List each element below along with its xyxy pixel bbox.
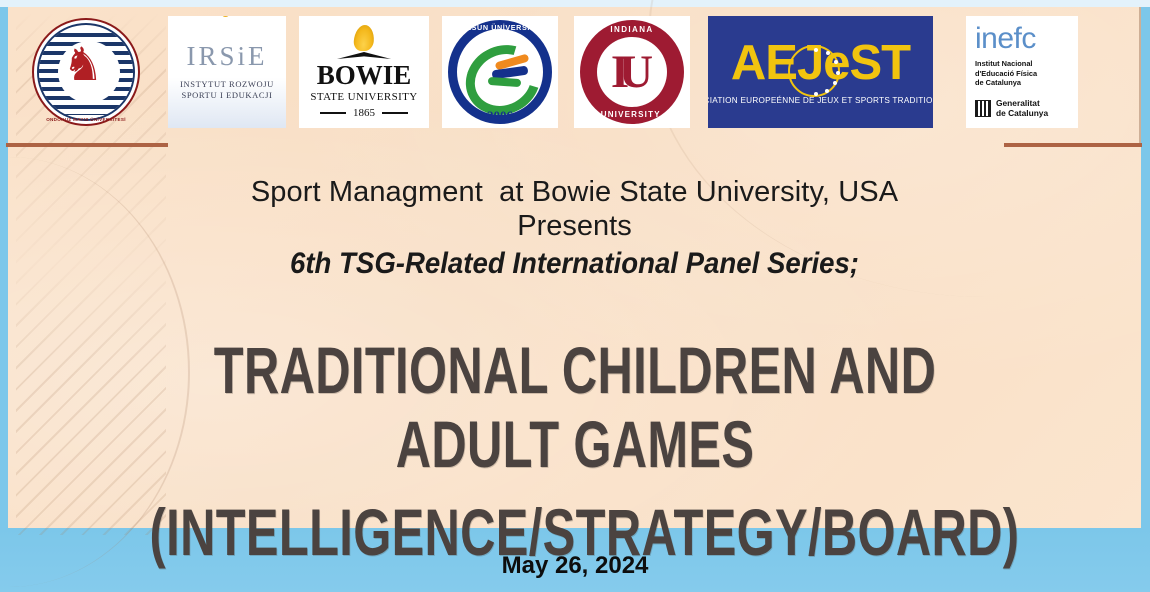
- inefc-subtitle-line2: d'Educació Física: [975, 69, 1037, 79]
- irsie-subtitle-line2: SPORTU I EDUKACJI: [180, 90, 274, 101]
- bowie-subtitle: STATE UNIVERSITY: [310, 91, 417, 103]
- event-date: May 26, 2024: [0, 552, 1150, 580]
- headline-line-1: TRADITIONAL CHILDREN AND ADULT GAMES: [150, 333, 1001, 481]
- inefc-subtitle-line1: Institut Nacional: [975, 59, 1037, 69]
- logo-aejest: AEJeST ASSOCIATION EUROPEÉNNE DE JEUX ET…: [708, 16, 933, 128]
- generalitat-lockup: Generalitat de Catalunya: [975, 98, 1048, 119]
- generalitat-text: Generalitat de Catalunya: [996, 98, 1048, 119]
- inefc-subtitle-line3: de Catalunya: [975, 78, 1037, 88]
- headline-block: TRADITIONAL CHILDREN AND ADULT GAMES (IN…: [0, 333, 1150, 569]
- omu-statue-icon: ♞: [59, 38, 107, 94]
- iu-bottom-text: UNIVERSITY.: [580, 110, 684, 119]
- inefc-wordmark: inefc: [975, 24, 1036, 54]
- bowie-flame-icon: [353, 25, 375, 51]
- presenter-line: Sport Managment at Bowie State Universit…: [8, 175, 1141, 209]
- iu-monogram: IU: [580, 44, 684, 100]
- generalitat-line1: Generalitat: [996, 98, 1048, 109]
- bowie-wordmark: BOWIE: [317, 62, 412, 89]
- generalitat-line2: de Catalunya: [996, 108, 1048, 119]
- irsie-subtitle-line1: INSTYTUT ROZWOJU: [180, 79, 274, 90]
- aejest-subtitle: ASSOCIATION EUROPEÉNNE DE JEUX ET SPORTS…: [708, 96, 933, 105]
- iu-top-text: INDIANA: [580, 25, 684, 34]
- logo-giresun-universitesi: GİRESUN ÜNİVERSİTESİ 2006: [442, 16, 558, 128]
- presents-line: Presents: [8, 209, 1141, 243]
- logo-inefc: inefc Institut Nacional d'Educació Físic…: [966, 16, 1078, 128]
- sponsor-logo-strip: ♞ ONDOKUZ MAYIS ÜNİVERSİTESİ IRSiE INSTY…: [8, 8, 1141, 134]
- top-edge-strip: [0, 0, 1150, 7]
- logo-indiana-university: IU INDIANA UNIVERSITY.: [574, 16, 690, 128]
- bowie-founding-year: 1865: [320, 107, 408, 119]
- inefc-subtitle: Institut Nacional d'Educació Física de C…: [975, 59, 1037, 88]
- bowie-open-book-icon: [337, 52, 391, 59]
- series-line: 6th TSG-Related International Panel Seri…: [53, 246, 1095, 282]
- presentation-slide: ♞ ONDOKUZ MAYIS ÜNİVERSİTESİ IRSiE INSTY…: [0, 0, 1150, 592]
- divider-rule-left: [6, 143, 168, 147]
- aejest-eu-stars-icon: [788, 45, 840, 97]
- generalitat-shield-icon: [975, 100, 991, 117]
- divider-rule-right: [1004, 143, 1142, 147]
- logo-ondokuz-mayis-universitesi: ♞ ONDOKUZ MAYIS ÜNİVERSİTESİ: [30, 16, 142, 128]
- logo-irsie: IRSiE INSTYTUT ROZWOJU SPORTU I EDUKACJI: [168, 16, 286, 128]
- subtitle-block: Sport Managment at Bowie State Universit…: [8, 175, 1141, 282]
- irsie-flame-icon: [221, 16, 230, 17]
- logo-bowie-state-university: BOWIE STATE UNIVERSITY 1865: [299, 16, 429, 128]
- giresun-top-text: GİRESUN ÜNİVERSİTESİ: [448, 23, 552, 32]
- giresun-year: 2006: [448, 108, 552, 124]
- irsie-subtitle: INSTYTUT ROZWOJU SPORTU I EDUKACJI: [180, 79, 274, 102]
- omu-label: ONDOKUZ MAYIS ÜNİVERSİTESİ: [32, 117, 140, 122]
- irsie-wordmark: IRSiE: [186, 43, 267, 70]
